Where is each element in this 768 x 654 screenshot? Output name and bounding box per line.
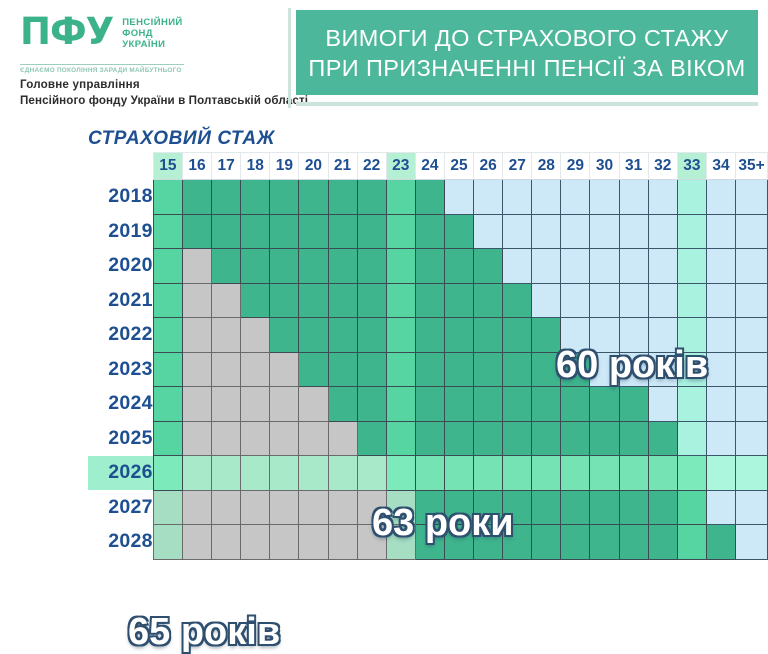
matrix-cell bbox=[415, 456, 444, 491]
matrix-cell bbox=[357, 214, 386, 249]
matrix-cell bbox=[357, 490, 386, 525]
matrix-cell bbox=[386, 490, 415, 525]
matrix-cell bbox=[299, 214, 328, 249]
matrix-cell bbox=[212, 525, 241, 560]
matrix-cell bbox=[532, 490, 561, 525]
matrix-row-2026: 2026 bbox=[88, 456, 768, 491]
matrix-cell bbox=[706, 283, 735, 318]
matrix-cell bbox=[212, 352, 241, 387]
matrix-cell bbox=[270, 387, 299, 422]
matrix-cell bbox=[619, 456, 648, 491]
matrix-cell bbox=[444, 456, 473, 491]
matrix-cell bbox=[736, 180, 768, 215]
matrix-cell bbox=[270, 318, 299, 353]
matrix-cell bbox=[444, 525, 473, 560]
matrix-cell bbox=[648, 490, 677, 525]
matrix-cell bbox=[444, 421, 473, 456]
matrix-cell bbox=[328, 318, 357, 353]
matrix-cell bbox=[532, 387, 561, 422]
matrix-cell bbox=[706, 387, 735, 422]
matrix-body: 2018201920202021202220232024202520262027… bbox=[88, 180, 768, 560]
matrix-cell bbox=[270, 249, 299, 284]
column-header-24: 24 bbox=[415, 153, 444, 180]
pension-matrix-table: 1516171819202122232425262728293031323334… bbox=[88, 152, 768, 560]
matrix-cell bbox=[212, 490, 241, 525]
matrix-cell bbox=[182, 387, 211, 422]
matrix-cell bbox=[706, 318, 735, 353]
column-header-25: 25 bbox=[444, 153, 473, 180]
matrix-cell bbox=[736, 456, 768, 491]
pension-matrix-chart: СТРАХОВИЙ СТАЖ 1516171819202122232425262… bbox=[0, 116, 768, 576]
matrix-cell bbox=[444, 283, 473, 318]
title-line-1: ВИМОГИ ДО СТРАХОВОГО СТАЖУ bbox=[325, 23, 728, 53]
column-header-33: 33 bbox=[677, 153, 706, 180]
page-header: ПФУ ПЕНСІЙНИЙ ФОНД УКРАЇНИ ЄДНАЄМО ПОКОЛ… bbox=[0, 0, 768, 116]
matrix-cell bbox=[648, 249, 677, 284]
matrix-cell bbox=[503, 456, 532, 491]
matrix-cell bbox=[415, 318, 444, 353]
matrix-cell bbox=[532, 180, 561, 215]
matrix-cell bbox=[561, 490, 590, 525]
matrix-cell bbox=[619, 283, 648, 318]
matrix-cell bbox=[561, 214, 590, 249]
matrix-cell bbox=[328, 249, 357, 284]
x-axis-label: СТРАХОВИЙ СТАЖ bbox=[88, 128, 275, 150]
matrix-cell bbox=[706, 352, 735, 387]
matrix-cell bbox=[474, 283, 503, 318]
organization-line-2: Пенсійного фонду України в Полтавській о… bbox=[20, 94, 308, 107]
matrix-cell bbox=[677, 352, 706, 387]
column-header-22: 22 bbox=[357, 153, 386, 180]
logo-word-1: ПЕНСІЙНИЙ bbox=[122, 17, 182, 28]
row-header-2027: 2027 bbox=[88, 490, 153, 525]
matrix-cell bbox=[270, 525, 299, 560]
logo-word-2: ФОНД bbox=[122, 28, 182, 39]
matrix-cell bbox=[619, 318, 648, 353]
row-header-2026: 2026 bbox=[88, 456, 153, 491]
matrix-cell bbox=[328, 180, 357, 215]
matrix-cell bbox=[503, 180, 532, 215]
matrix-cell bbox=[153, 525, 182, 560]
matrix-cell bbox=[648, 456, 677, 491]
matrix-cell bbox=[241, 180, 270, 215]
row-header-2020: 2020 bbox=[88, 249, 153, 284]
matrix-cell bbox=[212, 318, 241, 353]
matrix-cell bbox=[532, 352, 561, 387]
matrix-cell bbox=[299, 387, 328, 422]
matrix-cell bbox=[241, 352, 270, 387]
matrix-cell bbox=[270, 214, 299, 249]
column-header-35+: 35+ bbox=[736, 153, 768, 180]
matrix-cell bbox=[212, 421, 241, 456]
matrix-cell bbox=[532, 456, 561, 491]
matrix-cell bbox=[415, 387, 444, 422]
matrix-cell bbox=[736, 490, 768, 525]
matrix-cell bbox=[503, 214, 532, 249]
matrix-cell bbox=[270, 456, 299, 491]
matrix-cell bbox=[590, 180, 619, 215]
matrix-cell bbox=[212, 214, 241, 249]
matrix-cell bbox=[357, 421, 386, 456]
matrix-cell bbox=[648, 214, 677, 249]
column-header-20: 20 bbox=[299, 153, 328, 180]
matrix-cell bbox=[532, 249, 561, 284]
matrix-cell bbox=[474, 490, 503, 525]
matrix-cell bbox=[182, 249, 211, 284]
matrix-cell bbox=[386, 456, 415, 491]
matrix-cell bbox=[386, 214, 415, 249]
column-header-15: 15 bbox=[153, 153, 182, 180]
matrix-cell bbox=[736, 525, 768, 560]
column-header-23: 23 bbox=[386, 153, 415, 180]
matrix-cell bbox=[677, 456, 706, 491]
matrix-cell bbox=[299, 421, 328, 456]
matrix-cell bbox=[153, 490, 182, 525]
matrix-cell bbox=[590, 421, 619, 456]
matrix-cell bbox=[677, 387, 706, 422]
matrix-cell bbox=[241, 387, 270, 422]
matrix-cell bbox=[241, 525, 270, 560]
matrix-cell bbox=[503, 352, 532, 387]
matrix-cell bbox=[648, 387, 677, 422]
matrix-cell bbox=[444, 249, 473, 284]
matrix-cell bbox=[677, 249, 706, 284]
matrix-cell bbox=[619, 249, 648, 284]
column-header-31: 31 bbox=[619, 153, 648, 180]
matrix-cell bbox=[153, 456, 182, 491]
matrix-cell bbox=[357, 352, 386, 387]
matrix-cell bbox=[474, 352, 503, 387]
matrix-cell bbox=[503, 525, 532, 560]
matrix-cell bbox=[182, 421, 211, 456]
row-header-2019: 2019 bbox=[88, 214, 153, 249]
matrix-cell bbox=[590, 490, 619, 525]
matrix-cell bbox=[619, 352, 648, 387]
matrix-cell bbox=[648, 180, 677, 215]
matrix-cell bbox=[532, 214, 561, 249]
matrix-cell bbox=[677, 490, 706, 525]
matrix-cell bbox=[212, 249, 241, 284]
column-header-34: 34 bbox=[706, 153, 735, 180]
matrix-row-2028: 2028 bbox=[88, 525, 768, 560]
matrix-cell bbox=[386, 249, 415, 284]
matrix-cell bbox=[648, 352, 677, 387]
matrix-cell bbox=[503, 421, 532, 456]
matrix-cell bbox=[619, 525, 648, 560]
matrix-cell bbox=[736, 352, 768, 387]
matrix-cell bbox=[270, 352, 299, 387]
matrix-cell bbox=[357, 456, 386, 491]
header-divider bbox=[288, 8, 291, 108]
matrix-cell bbox=[474, 214, 503, 249]
matrix-cell bbox=[328, 214, 357, 249]
matrix-cell bbox=[153, 352, 182, 387]
matrix-row-2020: 2020 bbox=[88, 249, 768, 284]
matrix-cell bbox=[241, 456, 270, 491]
matrix-row-2022: 2022 bbox=[88, 318, 768, 353]
matrix-cell bbox=[736, 421, 768, 456]
matrix-cell bbox=[153, 214, 182, 249]
matrix-cell bbox=[648, 421, 677, 456]
matrix-cell bbox=[357, 180, 386, 215]
matrix-cell bbox=[241, 318, 270, 353]
matrix-cell bbox=[182, 525, 211, 560]
matrix-cell bbox=[736, 387, 768, 422]
matrix-cell bbox=[415, 249, 444, 284]
matrix-cell bbox=[706, 180, 735, 215]
matrix-cell bbox=[561, 180, 590, 215]
matrix-cell bbox=[561, 352, 590, 387]
column-header-17: 17 bbox=[212, 153, 241, 180]
matrix-cell bbox=[299, 318, 328, 353]
matrix-cell bbox=[444, 214, 473, 249]
matrix-cell bbox=[182, 283, 211, 318]
matrix-cell bbox=[153, 283, 182, 318]
matrix-cell bbox=[386, 180, 415, 215]
column-header-row: 1516171819202122232425262728293031323334… bbox=[88, 153, 768, 180]
matrix-cell bbox=[561, 456, 590, 491]
row-header-2025: 2025 bbox=[88, 421, 153, 456]
matrix-cell bbox=[270, 283, 299, 318]
matrix-cell bbox=[474, 318, 503, 353]
matrix-cell bbox=[357, 283, 386, 318]
matrix-cell bbox=[328, 490, 357, 525]
matrix-cell bbox=[182, 318, 211, 353]
matrix-cell bbox=[503, 283, 532, 318]
matrix-cell bbox=[619, 214, 648, 249]
matrix-cell bbox=[270, 490, 299, 525]
matrix-cell bbox=[532, 283, 561, 318]
logo-slogan: ЄДНАЄМО ПОКОЛІННЯ ЗАРАДИ МАЙБУТНЬОГО bbox=[20, 67, 182, 74]
column-header-29: 29 bbox=[561, 153, 590, 180]
matrix-cell bbox=[212, 456, 241, 491]
matrix-cell bbox=[153, 249, 182, 284]
row-header-2028: 2028 bbox=[88, 525, 153, 560]
matrix-cell bbox=[677, 214, 706, 249]
matrix-cell bbox=[415, 525, 444, 560]
matrix-row-2025: 2025 bbox=[88, 421, 768, 456]
banner-underline bbox=[296, 102, 758, 106]
matrix-cell bbox=[619, 421, 648, 456]
column-header-26: 26 bbox=[474, 153, 503, 180]
matrix-cell bbox=[561, 387, 590, 422]
logo-wordmark: ПЕНСІЙНИЙ ФОНД УКРАЇНИ bbox=[122, 17, 182, 51]
matrix-cell bbox=[532, 421, 561, 456]
matrix-row-2024: 2024 bbox=[88, 387, 768, 422]
matrix-cell bbox=[561, 249, 590, 284]
row-header-2018: 2018 bbox=[88, 180, 153, 215]
matrix-cell bbox=[736, 249, 768, 284]
pfu-logo-icon: ПФУ bbox=[20, 14, 113, 50]
matrix-cell bbox=[328, 283, 357, 318]
matrix-cell bbox=[241, 421, 270, 456]
matrix-cell bbox=[212, 387, 241, 422]
matrix-cell bbox=[357, 318, 386, 353]
matrix-cell bbox=[328, 352, 357, 387]
matrix-cell bbox=[241, 490, 270, 525]
matrix-cell bbox=[241, 214, 270, 249]
matrix-cell bbox=[386, 318, 415, 353]
matrix-cell bbox=[444, 318, 473, 353]
matrix-cell bbox=[619, 180, 648, 215]
matrix-cell bbox=[590, 387, 619, 422]
matrix-cell bbox=[212, 180, 241, 215]
row-header-2021: 2021 bbox=[88, 283, 153, 318]
matrix-cell bbox=[357, 387, 386, 422]
matrix-cell bbox=[241, 283, 270, 318]
matrix-cell bbox=[561, 525, 590, 560]
column-header-16: 16 bbox=[182, 153, 211, 180]
row-header-2023: 2023 bbox=[88, 352, 153, 387]
matrix-cell bbox=[474, 525, 503, 560]
title-banner: ВИМОГИ ДО СТРАХОВОГО СТАЖУ ПРИ ПРИЗНАЧЕН… bbox=[296, 10, 758, 95]
matrix-cell bbox=[706, 490, 735, 525]
matrix-cell bbox=[386, 387, 415, 422]
row-header-2024: 2024 bbox=[88, 387, 153, 422]
matrix-cell bbox=[357, 249, 386, 284]
matrix-cell bbox=[444, 387, 473, 422]
matrix-cell bbox=[503, 490, 532, 525]
matrix-cell bbox=[153, 421, 182, 456]
matrix-cell bbox=[328, 387, 357, 422]
matrix-cell bbox=[677, 525, 706, 560]
matrix-cell bbox=[444, 180, 473, 215]
matrix-cell bbox=[590, 456, 619, 491]
column-header-19: 19 bbox=[270, 153, 299, 180]
matrix-cell bbox=[415, 490, 444, 525]
matrix-grid-wrapper: 1516171819202122232425262728293031323334… bbox=[88, 152, 768, 560]
matrix-cell bbox=[648, 283, 677, 318]
matrix-cell bbox=[182, 490, 211, 525]
matrix-cell bbox=[386, 421, 415, 456]
matrix-cell bbox=[503, 387, 532, 422]
matrix-cell bbox=[299, 490, 328, 525]
matrix-cell bbox=[677, 283, 706, 318]
matrix-cell bbox=[619, 490, 648, 525]
matrix-cell bbox=[590, 249, 619, 284]
matrix-cell bbox=[474, 456, 503, 491]
column-header-32: 32 bbox=[648, 153, 677, 180]
matrix-corner-cell bbox=[88, 153, 153, 180]
column-header-18: 18 bbox=[241, 153, 270, 180]
matrix-row-2021: 2021 bbox=[88, 283, 768, 318]
matrix-cell bbox=[415, 352, 444, 387]
matrix-cell bbox=[444, 352, 473, 387]
matrix-cell bbox=[736, 318, 768, 353]
matrix-cell bbox=[590, 283, 619, 318]
column-header-27: 27 bbox=[503, 153, 532, 180]
matrix-cell bbox=[182, 214, 211, 249]
matrix-cell bbox=[182, 352, 211, 387]
matrix-cell bbox=[706, 214, 735, 249]
matrix-cell bbox=[736, 283, 768, 318]
pfu-logo-block: ПФУ ПЕНСІЙНИЙ ФОНД УКРАЇНИ ЄДНАЄМО ПОКОЛ… bbox=[14, 14, 286, 108]
matrix-cell bbox=[648, 318, 677, 353]
legend-caption-65: 65 років bbox=[128, 611, 280, 654]
matrix-cell bbox=[532, 525, 561, 560]
logo-divider bbox=[20, 64, 184, 65]
matrix-cell bbox=[241, 249, 270, 284]
matrix-cell bbox=[736, 214, 768, 249]
matrix-cell bbox=[270, 180, 299, 215]
matrix-cell bbox=[474, 249, 503, 284]
matrix-cell bbox=[706, 456, 735, 491]
matrix-cell bbox=[590, 525, 619, 560]
row-header-2022: 2022 bbox=[88, 318, 153, 353]
matrix-cell bbox=[299, 180, 328, 215]
matrix-cell bbox=[328, 525, 357, 560]
matrix-cell bbox=[328, 421, 357, 456]
matrix-cell bbox=[182, 456, 211, 491]
matrix-cell bbox=[561, 318, 590, 353]
column-header-30: 30 bbox=[590, 153, 619, 180]
matrix-cell bbox=[474, 180, 503, 215]
matrix-cell bbox=[474, 421, 503, 456]
matrix-cell bbox=[561, 421, 590, 456]
matrix-cell bbox=[386, 525, 415, 560]
matrix-cell bbox=[386, 283, 415, 318]
matrix-cell bbox=[503, 318, 532, 353]
matrix-cell bbox=[328, 456, 357, 491]
matrix-cell bbox=[503, 249, 532, 284]
matrix-cell bbox=[182, 180, 211, 215]
matrix-cell bbox=[357, 525, 386, 560]
matrix-cell bbox=[415, 421, 444, 456]
matrix-cell bbox=[153, 318, 182, 353]
title-line-2: ПРИ ПРИЗНАЧЕННІ ПЕНСІЇ ЗА ВІКОМ bbox=[308, 53, 745, 83]
logo-word-3: УКРАЇНИ bbox=[122, 39, 182, 50]
matrix-cell bbox=[153, 387, 182, 422]
matrix-cell bbox=[474, 387, 503, 422]
column-header-21: 21 bbox=[328, 153, 357, 180]
matrix-cell bbox=[590, 318, 619, 353]
matrix-cell bbox=[212, 283, 241, 318]
matrix-cell bbox=[299, 283, 328, 318]
matrix-cell bbox=[706, 421, 735, 456]
matrix-cell bbox=[270, 421, 299, 456]
matrix-cell bbox=[677, 318, 706, 353]
matrix-cell bbox=[677, 180, 706, 215]
matrix-cell bbox=[444, 490, 473, 525]
matrix-cell bbox=[386, 352, 415, 387]
matrix-cell bbox=[706, 249, 735, 284]
matrix-cell bbox=[415, 283, 444, 318]
matrix-cell bbox=[415, 180, 444, 215]
logo-row: ПФУ ПЕНСІЙНИЙ ФОНД УКРАЇНИ bbox=[20, 14, 183, 51]
matrix-cell bbox=[153, 180, 182, 215]
matrix-cell bbox=[532, 318, 561, 353]
matrix-row-2027: 2027 bbox=[88, 490, 768, 525]
matrix-cell bbox=[561, 283, 590, 318]
matrix-cell bbox=[619, 387, 648, 422]
organization-line-1: Головне управління bbox=[20, 78, 140, 91]
matrix-cell bbox=[299, 456, 328, 491]
matrix-cell bbox=[590, 352, 619, 387]
column-header-28: 28 bbox=[532, 153, 561, 180]
matrix-cell bbox=[706, 525, 735, 560]
matrix-row-2019: 2019 bbox=[88, 214, 768, 249]
matrix-cell bbox=[415, 214, 444, 249]
matrix-row-2023: 2023 bbox=[88, 352, 768, 387]
matrix-row-2018: 2018 bbox=[88, 180, 768, 215]
matrix-cell bbox=[299, 249, 328, 284]
matrix-cell bbox=[299, 525, 328, 560]
matrix-cell bbox=[299, 352, 328, 387]
matrix-head: 1516171819202122232425262728293031323334… bbox=[88, 153, 768, 180]
matrix-cell bbox=[648, 525, 677, 560]
matrix-cell bbox=[677, 421, 706, 456]
matrix-cell bbox=[590, 214, 619, 249]
